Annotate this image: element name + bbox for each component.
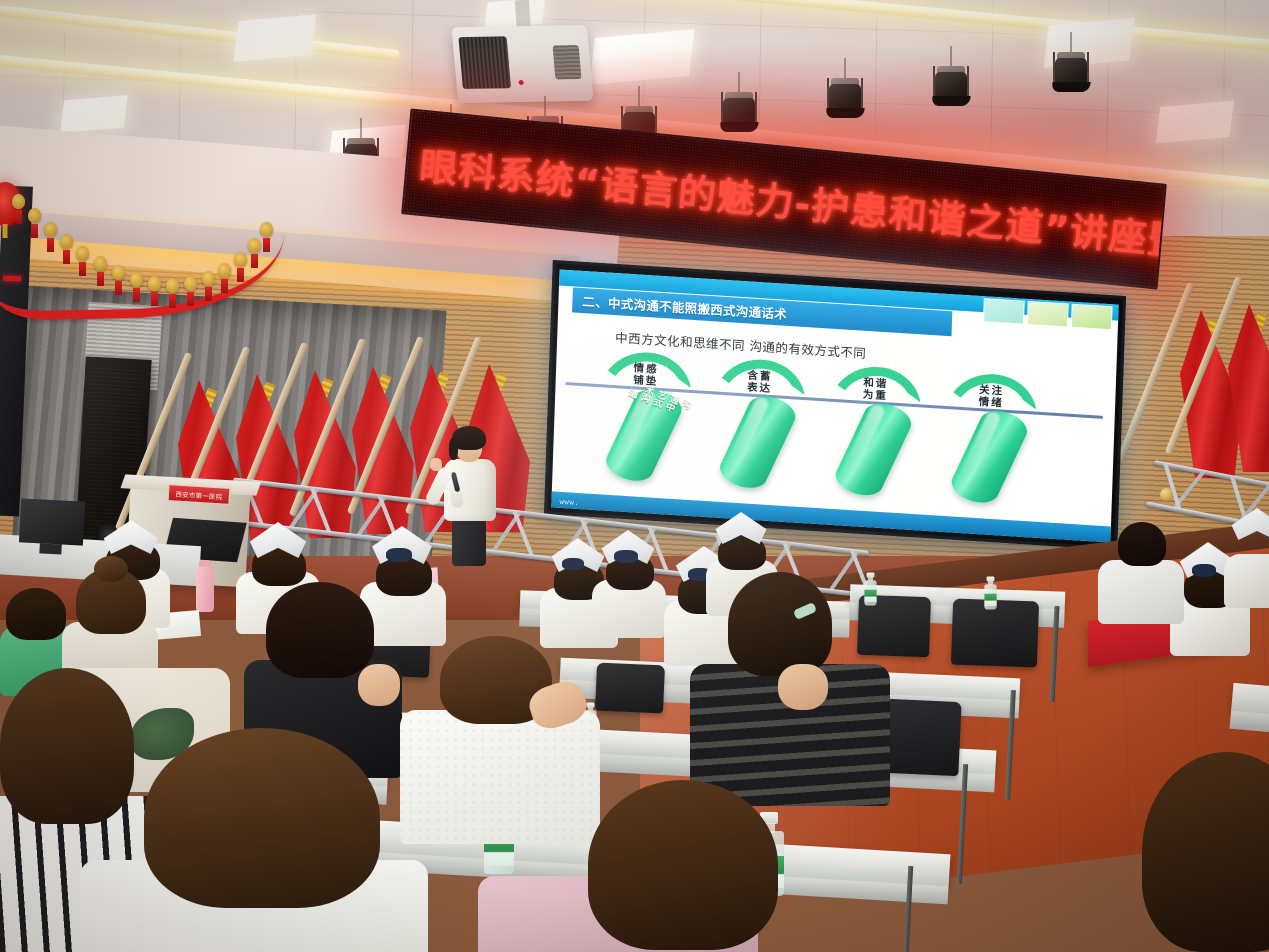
man-hair xyxy=(1118,522,1166,566)
audience-front-pink-top xyxy=(478,800,758,952)
projector-vent xyxy=(458,36,511,89)
striped-top-hair xyxy=(728,572,832,676)
projector-power-led xyxy=(518,80,523,85)
cap-bow-3 xyxy=(386,548,412,562)
desk-right-edge xyxy=(1231,683,1269,723)
presenter-hand xyxy=(430,458,442,471)
audience-man-white-shirt xyxy=(1098,510,1184,620)
cap-bow-8 xyxy=(1192,564,1216,577)
projection-screen: 二、中式沟通不能照搬西式沟通话术 中西方文化和思维不同 沟通的有效方式不同 中式… xyxy=(544,260,1126,550)
cap-bow-5 xyxy=(614,550,638,563)
audience-nurse-9 xyxy=(1224,506,1269,598)
presenter-legs xyxy=(452,518,486,566)
pink-thermos xyxy=(196,566,214,612)
fu-charm-garland xyxy=(0,168,284,338)
man-body xyxy=(1098,560,1184,624)
presenter-hair xyxy=(452,426,486,450)
front-white-hair xyxy=(144,728,380,908)
audience-nurse-5 xyxy=(592,528,666,626)
podium-sign-text: 西安市第一医院 xyxy=(175,488,222,501)
presentation-slide: 二、中式沟通不能照搬西式沟通话术 中西方文化和思维不同 沟通的有效方式不同 中式… xyxy=(551,269,1118,542)
nurse-9-body xyxy=(1224,554,1269,608)
slide-thumbnail-2 xyxy=(1027,301,1069,328)
slide-thumbnail-1 xyxy=(983,298,1025,325)
slide-label-2: 含蓄 表达 xyxy=(731,368,788,396)
front-right-hair xyxy=(1142,752,1269,952)
slide-label-4: 关注 情绪 xyxy=(963,383,1020,411)
side-monitor xyxy=(19,498,85,545)
railing-post-ball-right xyxy=(1160,488,1173,501)
front-pink-hair xyxy=(588,780,778,950)
black-top-hair xyxy=(266,582,374,678)
slide-thumbnail-3 xyxy=(1071,304,1113,331)
green-top-hair xyxy=(6,588,66,640)
audience-front-right xyxy=(1142,752,1269,952)
nurse-cap-9 xyxy=(1228,508,1269,540)
hand-on-neck xyxy=(778,664,828,710)
slide-footer-url: www. xyxy=(559,497,579,507)
clasped-hands xyxy=(358,664,400,706)
hair-bun xyxy=(94,556,128,582)
slide-label-1: 情感 铺垫 xyxy=(618,361,675,389)
lecture-hall-photo: 眼科系统“语言的魅力-护患和谐之道”讲座暨培训班 二、中式沟通不能照搬西式沟通话… xyxy=(0,0,1269,952)
cap-bow-4 xyxy=(562,558,584,570)
audience-striped-black-top xyxy=(690,572,890,798)
slide-label-3: 和谐 为重 xyxy=(847,376,904,404)
ceiling-projector xyxy=(452,25,594,103)
chair-empty-4 xyxy=(595,663,665,714)
water-bottle-2 xyxy=(984,576,996,609)
projector-lens xyxy=(553,45,582,79)
audience-front-white-tee xyxy=(104,740,404,952)
